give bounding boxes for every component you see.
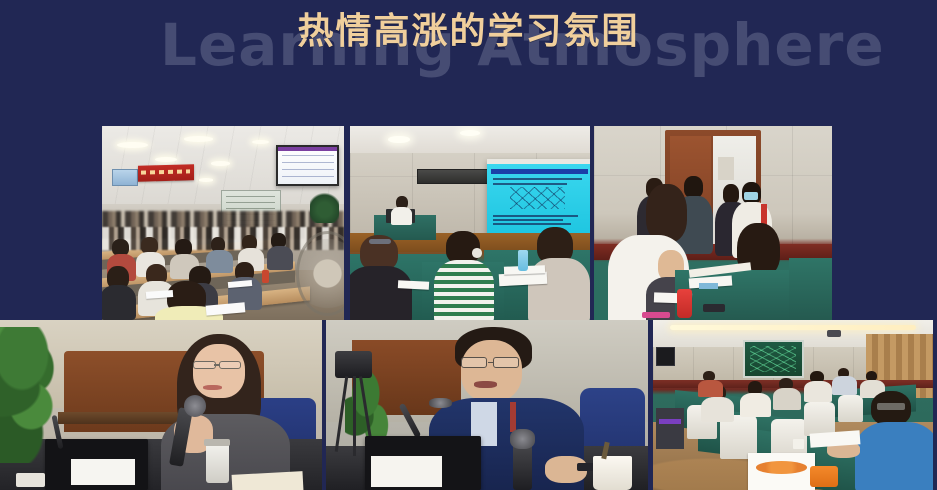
slide-root: Learning Atmosphere 热情高涨的学习氛围: [0, 0, 937, 490]
photo-lecture-hall: [102, 126, 344, 320]
photo-classroom-projection: [350, 126, 590, 320]
photo-man-speaker: [326, 320, 648, 490]
title-chinese: 热情高涨的学习氛围: [0, 12, 937, 52]
photo-row-top: [102, 126, 832, 320]
title-block: Learning Atmosphere 热情高涨的学习氛围: [0, 0, 937, 100]
photo-row-bottom: [0, 320, 933, 490]
photo-training-room: [653, 320, 933, 490]
photo-woman-speaker: [0, 320, 322, 490]
photo-group-discussion: [594, 126, 832, 320]
